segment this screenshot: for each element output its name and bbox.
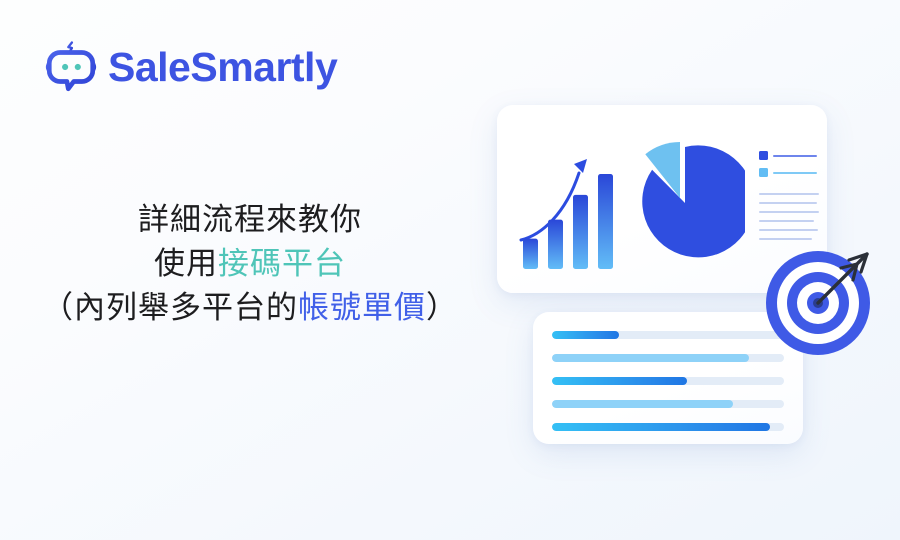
legend-item-2 xyxy=(759,168,817,177)
progress-row-3 xyxy=(552,377,784,385)
placeholder-text-lines xyxy=(759,193,819,247)
headline-accent-price: 帳號單價 xyxy=(298,290,426,326)
brand-logo: SaleSmartly xyxy=(42,38,337,96)
text-line xyxy=(759,202,817,204)
text-line xyxy=(759,238,812,240)
bar-2 xyxy=(548,220,563,269)
headline-line-2-plain: 使用 xyxy=(154,246,218,282)
legend-label-line xyxy=(773,155,817,157)
text-line xyxy=(759,220,814,222)
progress-fill xyxy=(552,331,619,339)
headline-line-3: （內列舉多平台的帳號單價） xyxy=(20,286,480,330)
legend-item-1 xyxy=(759,151,817,160)
target-bullseye-icon xyxy=(763,248,873,358)
headline-line-1: 詳細流程來教你 xyxy=(20,198,480,242)
progress-row-2 xyxy=(552,354,784,362)
robot-eye-right xyxy=(75,64,81,70)
progress-row-4 xyxy=(552,400,784,408)
progress-fill xyxy=(552,354,749,362)
text-line xyxy=(759,211,819,213)
progress-bar-list xyxy=(552,331,784,431)
progress-row-1 xyxy=(552,331,784,339)
text-line xyxy=(759,193,819,195)
pie-chart xyxy=(625,123,745,273)
bar-1 xyxy=(523,239,538,269)
text-line xyxy=(759,229,818,231)
brand-wordmark: SaleSmartly xyxy=(108,47,337,88)
robot-eye-left xyxy=(62,64,68,70)
progress-row-5 xyxy=(552,423,784,431)
page-headline: 詳細流程來教你 使用接碼平台 （內列舉多平台的帳號單價） xyxy=(20,198,480,330)
headline-accent-platform: 接碼平台 xyxy=(218,246,346,282)
headline-line-3-open: （內列舉多平台的 xyxy=(42,290,298,326)
legend-label-line xyxy=(773,172,817,174)
bar-chart xyxy=(517,123,625,273)
chart-legend xyxy=(759,151,817,185)
progress-fill xyxy=(552,377,687,385)
legend-swatch-dark xyxy=(759,151,768,160)
progress-fill xyxy=(552,400,733,408)
legend-swatch-light xyxy=(759,168,768,177)
bar-3 xyxy=(573,195,588,269)
headline-line-2: 使用接碼平台 xyxy=(20,242,480,286)
robot-chat-icon xyxy=(42,38,100,96)
bar-4 xyxy=(598,174,613,269)
progress-fill xyxy=(552,423,770,431)
hero-illustration xyxy=(480,90,880,470)
headline-line-3-close: ） xyxy=(426,290,458,326)
